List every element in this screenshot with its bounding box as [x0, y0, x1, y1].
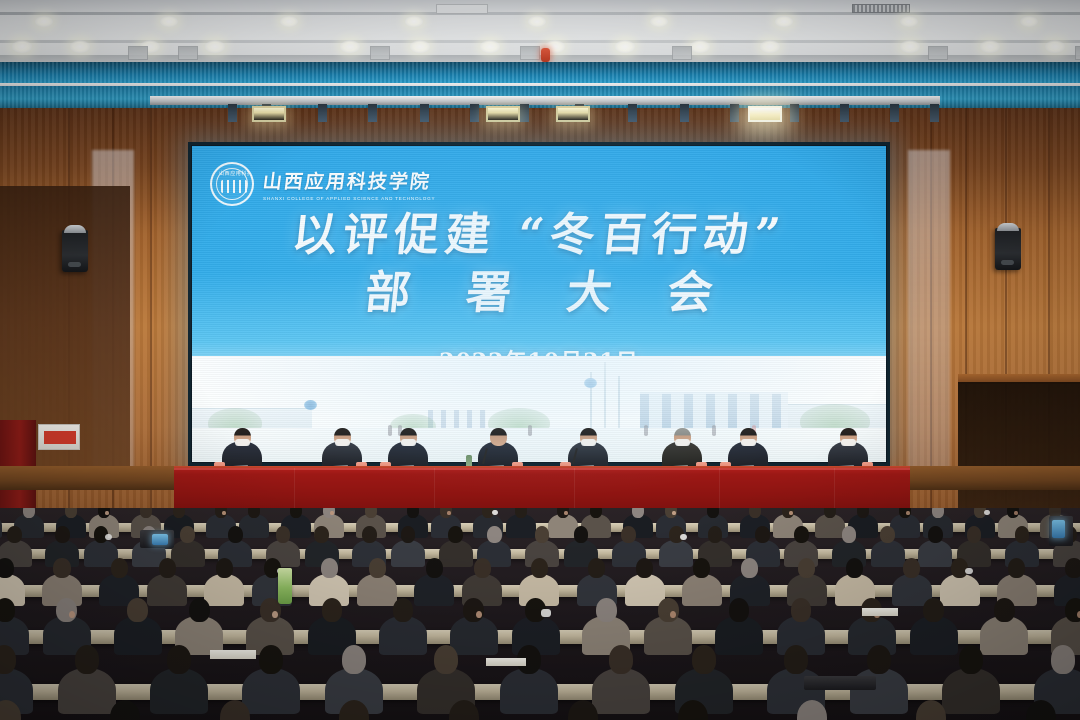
- audience-person: [0, 514, 2, 538]
- audience-person: [980, 616, 1028, 654]
- audience-head: [621, 526, 636, 543]
- audience-head: [228, 526, 243, 543]
- audience-head: [173, 508, 186, 518]
- audience-person: [815, 514, 845, 538]
- audience-head: [1065, 558, 1080, 578]
- audience-head: [596, 598, 617, 622]
- audience-head: [755, 526, 770, 543]
- face-mask-icon: [984, 510, 990, 515]
- audience-head: [448, 526, 463, 543]
- audience-head: [127, 598, 148, 622]
- audience-head: [928, 526, 943, 543]
- audience-head: [365, 508, 378, 518]
- face-mask-icon: [581, 439, 596, 446]
- audience-head: [487, 526, 502, 543]
- audience-head: [401, 526, 416, 543]
- audience-person: [357, 574, 397, 606]
- audience-head: [259, 645, 284, 674]
- audience-head: [474, 558, 491, 578]
- audience-person: [391, 540, 425, 567]
- audience-head: [1065, 598, 1080, 622]
- audience-head: [632, 508, 645, 518]
- audience-head: [658, 598, 679, 622]
- audience-head: [1008, 558, 1025, 578]
- smartphone-icon: [152, 534, 168, 545]
- laptop-icon: [804, 676, 876, 690]
- audience-head: [959, 645, 984, 674]
- audience-head: [741, 558, 758, 578]
- face-mask-icon: [841, 439, 856, 446]
- audience-head: [994, 598, 1015, 622]
- audience-person: [942, 668, 1000, 714]
- audience-head: [434, 645, 459, 674]
- audience-person: [450, 616, 498, 654]
- audience-person: [682, 574, 722, 606]
- audience-person: [242, 668, 300, 714]
- audience-head: [609, 645, 634, 674]
- audience-person: [439, 540, 473, 567]
- audience-head: [189, 598, 210, 622]
- audience-head: [784, 645, 809, 674]
- audience-head: [111, 558, 128, 578]
- audience-person: [506, 514, 536, 538]
- audience-head: [342, 645, 367, 674]
- audience-person: [171, 540, 205, 567]
- audience-head: [0, 558, 14, 578]
- face-mask-icon: [492, 510, 498, 515]
- audience-head: [967, 526, 982, 543]
- audience-person: [58, 668, 116, 714]
- audience-head: [23, 508, 36, 518]
- audience-head: [159, 558, 176, 578]
- audience-person: [871, 540, 905, 567]
- audience-head: [65, 508, 78, 518]
- audience-head: [1051, 645, 1076, 674]
- audience-head: [708, 526, 723, 543]
- audience-head: [55, 526, 70, 543]
- audience-head: [903, 558, 920, 578]
- audience-head: [56, 598, 77, 622]
- audience-head: [531, 558, 548, 578]
- audience-head: [932, 508, 945, 518]
- audience-person: [910, 616, 958, 654]
- audience-head: [535, 526, 550, 543]
- audience-head: [867, 645, 892, 674]
- audience-head: [276, 526, 291, 543]
- audience-head: [314, 526, 329, 543]
- audience-head: [515, 508, 528, 518]
- audience-person: [940, 574, 980, 606]
- audience-head: [362, 526, 377, 543]
- audience-head: [167, 645, 192, 674]
- audience-head: [180, 526, 195, 543]
- audience-person: [918, 540, 952, 567]
- audience-head: [590, 508, 603, 518]
- audience-face: [476, 611, 482, 618]
- audience-head: [369, 558, 386, 578]
- audience-person: [592, 668, 650, 714]
- face-mask-icon: [401, 439, 416, 446]
- notebook-icon: [862, 608, 898, 616]
- notebook-icon: [210, 650, 256, 659]
- audience-head: [1015, 526, 1030, 543]
- audience-head: [880, 526, 895, 543]
- audience-head: [290, 508, 303, 518]
- audience-person: [414, 574, 454, 606]
- audience-head: [574, 526, 589, 543]
- audience-head: [824, 508, 837, 518]
- audience-head: [463, 598, 484, 622]
- audience-person: [147, 574, 187, 606]
- audience-person: [379, 616, 427, 654]
- audience-head: [749, 508, 762, 518]
- audience-head: [248, 508, 261, 518]
- audience-head: [794, 526, 809, 543]
- audience-head: [707, 508, 720, 518]
- audience-area: [0, 508, 1080, 720]
- smartphone-icon: [1052, 520, 1065, 538]
- audience-head: [923, 598, 944, 622]
- audience-person: [644, 616, 692, 654]
- audience-head: [857, 508, 870, 518]
- audience-face: [69, 611, 75, 618]
- audience-head: [7, 526, 22, 543]
- audience-head: [322, 598, 343, 622]
- audience-head: [110, 700, 141, 720]
- audience-head: [426, 558, 443, 578]
- audience-person: [659, 540, 693, 567]
- face-mask-icon: [965, 568, 973, 575]
- audience-head: [692, 645, 717, 674]
- audience-person: [204, 574, 244, 606]
- audience-head: [636, 558, 653, 578]
- face-mask-icon: [541, 609, 550, 617]
- audience-head: [588, 558, 605, 578]
- audience-person: [239, 514, 269, 538]
- face-mask-icon: [335, 439, 350, 446]
- audience-head: [53, 558, 70, 578]
- audience-head: [729, 598, 750, 622]
- audience-head: [407, 508, 420, 518]
- audience-person: [625, 574, 665, 606]
- face-mask-icon: [741, 439, 756, 446]
- audience-head: [693, 558, 710, 578]
- audience-head: [140, 508, 153, 518]
- face-mask-icon: [675, 439, 690, 446]
- face-mask-icon: [680, 534, 687, 540]
- audience-head: [393, 598, 414, 622]
- face-mask-icon: [235, 439, 250, 446]
- audience-head: [75, 645, 100, 674]
- audience-head: [798, 558, 815, 578]
- water-bottle-icon: [278, 568, 292, 604]
- audience-person: [150, 668, 208, 714]
- audience-person: [715, 616, 763, 654]
- audience-head: [321, 558, 338, 578]
- audience-head: [216, 558, 233, 578]
- audience-person: [850, 668, 908, 714]
- audience-head: [842, 526, 857, 543]
- face-mask-icon: [105, 534, 112, 540]
- notebook-icon: [486, 658, 526, 666]
- conference-hall-photo: 山西应用科技学院 山西应用科技学院 SHANXI COLLEGE OF APPL…: [0, 0, 1080, 720]
- audience-person: [114, 616, 162, 654]
- audience-head: [791, 598, 812, 622]
- person-head: [490, 428, 507, 446]
- audience-person: [500, 668, 558, 714]
- audience-head: [846, 558, 863, 578]
